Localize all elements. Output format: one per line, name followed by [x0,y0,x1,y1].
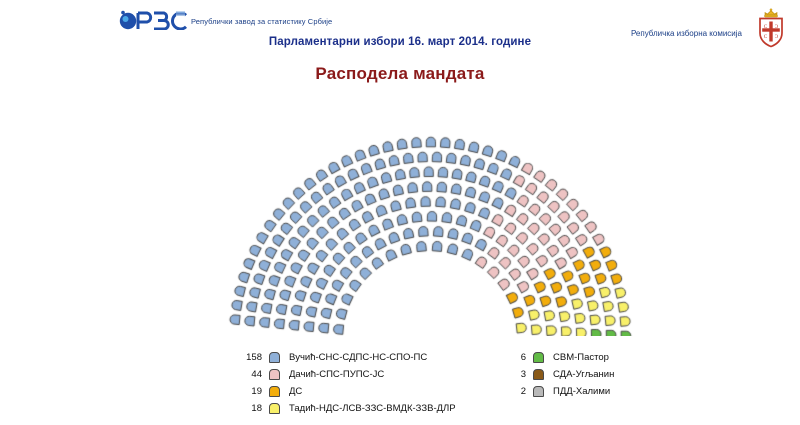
rzs-caption: Републички завод за статистику Србије [191,17,332,26]
legend: 158 Вучић-СНС-СДПС-НС-СПО-ПС 44 Дачић-СП… [0,350,800,420]
legend-count: 44 [236,369,262,380]
legend-swatch [533,386,544,397]
seating-chart [0,96,800,336]
legend-item: 3 СДА-Угљанин [500,367,614,382]
legend-label: Дачић-СПС-ПУПС-ЈС [289,369,384,380]
hemicycle-canvas [0,96,800,336]
rzs-logo-icon [118,10,190,30]
legend-column-left: 158 Вучић-СНС-СДПС-НС-СПО-ПС 44 Дачић-СП… [236,350,456,418]
legend-label: Тадић-НДС-ЛСВ-ЗЗС-ВМДК-ЗЗВ-ДЛР [289,403,456,414]
legend-count: 19 [236,386,262,397]
legend-item: 18 Тадић-НДС-ЛСВ-ЗЗС-ВМДК-ЗЗВ-ДЛР [236,401,456,416]
legend-swatch [533,369,544,380]
legend-item: 158 Вучић-СНС-СДПС-НС-СПО-ПС [236,350,456,365]
election-title: Парламентарни избори 16. март 2014. годи… [0,36,800,48]
legend-item: 19 ДС [236,384,456,399]
legend-count: 158 [236,352,262,363]
legend-item: 44 Дачић-СПС-ПУПС-ЈС [236,367,456,382]
legend-swatch [269,352,280,363]
legend-swatch [533,352,544,363]
svg-text:C: C [764,24,768,30]
svg-text:Ɔ: Ɔ [775,24,779,30]
legend-swatch [269,386,280,397]
legend-label: СВМ-Пастор [553,352,609,363]
rzs-logo-block: Републички завод за статистику Србије [118,10,332,30]
legend-swatch [269,369,280,380]
legend-label: Вучић-СНС-СДПС-НС-СПО-ПС [289,352,427,363]
legend-label: ПДД-Халими [553,386,610,397]
legend-item: 6 СВМ-Пастор [500,350,614,365]
legend-swatch [269,403,280,414]
legend-count: 18 [236,403,262,414]
legend-label: ДС [289,386,302,397]
legend-label: СДА-Угљанин [553,369,614,380]
legend-item: 2 ПДД-Халими [500,384,614,399]
legend-count: 6 [500,352,526,363]
page-title: Расподела мандата [0,64,800,84]
legend-count: 3 [500,369,526,380]
legend-count: 2 [500,386,526,397]
legend-column-right: 6 СВМ-Пастор 3 СДА-Угљанин 2 ПДД-Халими [500,350,614,401]
